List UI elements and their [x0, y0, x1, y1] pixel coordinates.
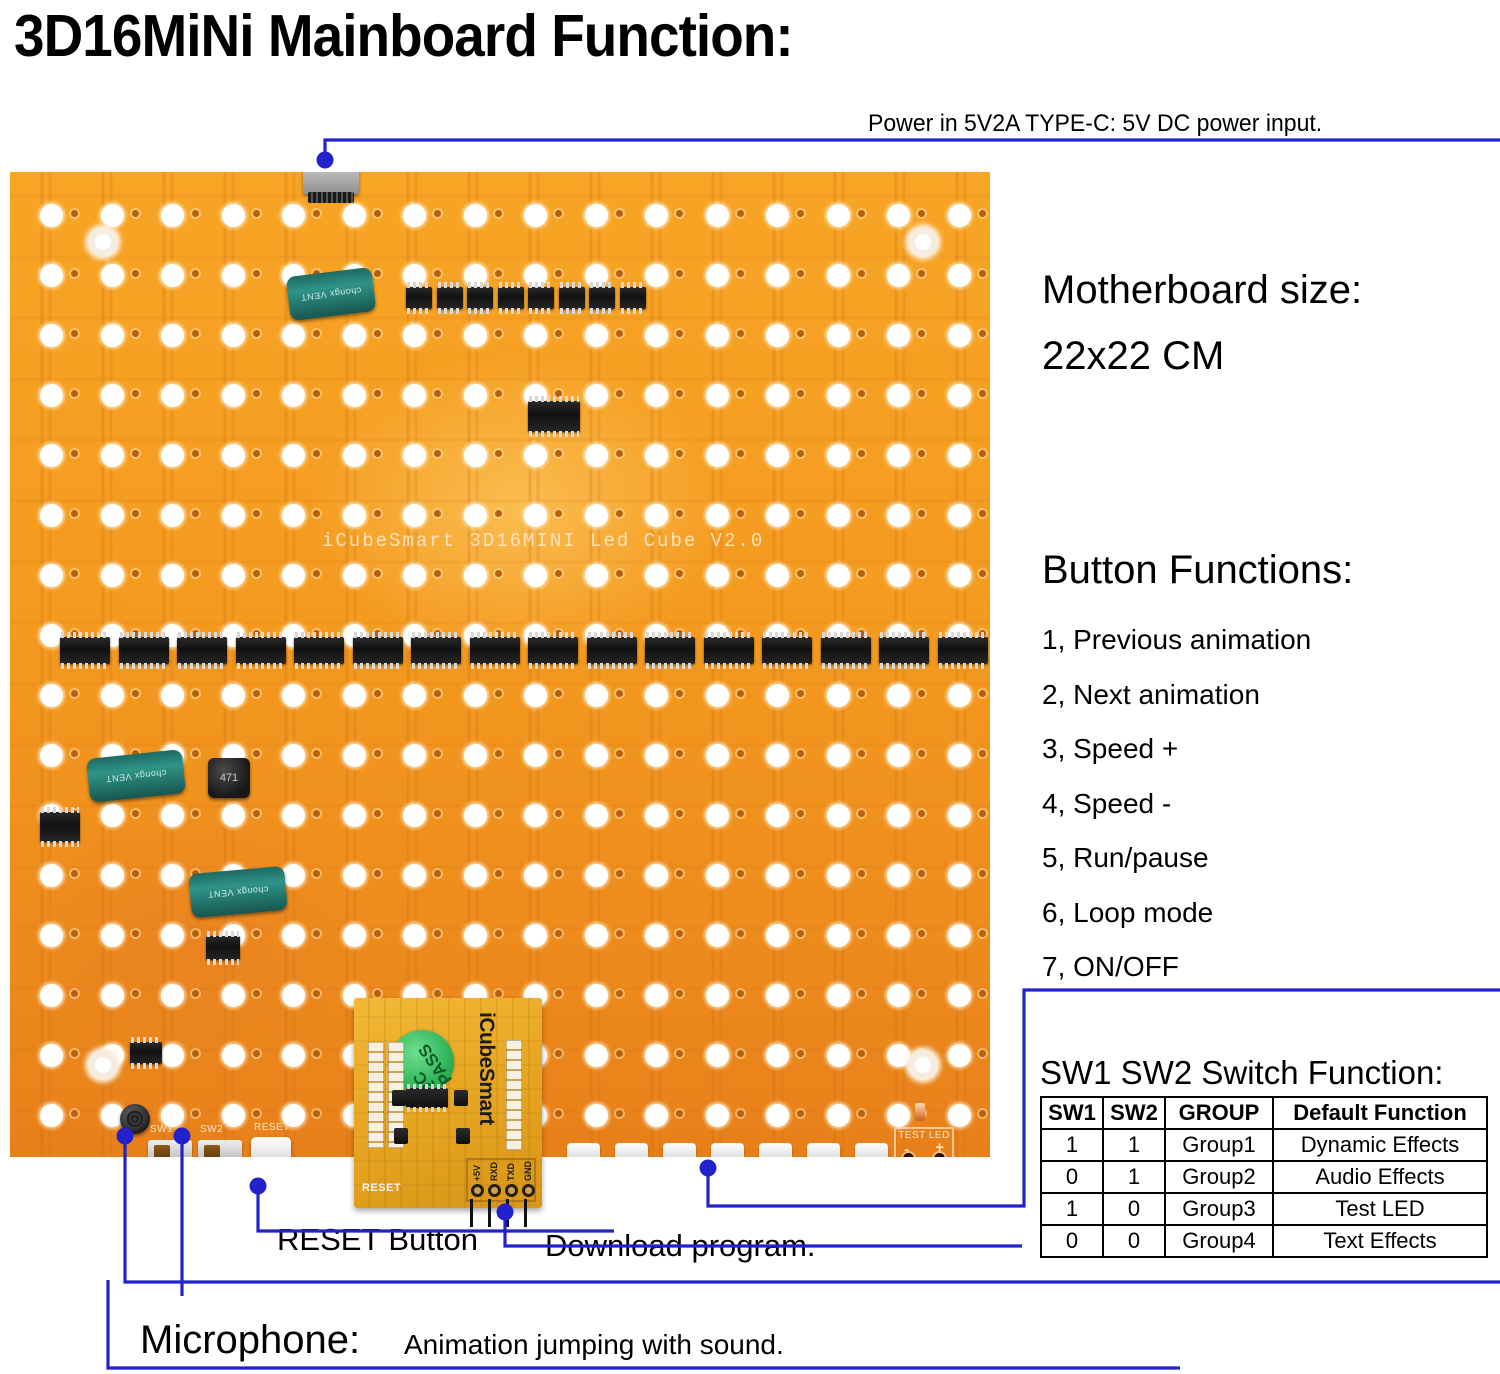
module-header-left[interactable] [368, 1042, 384, 1148]
led-hole [948, 744, 971, 767]
page-title: 3D16MiNi Mainboard Function: [14, 2, 793, 70]
table-row: 01Group2Audio Effects [1041, 1161, 1487, 1193]
led-hole [766, 564, 789, 587]
sw1-slide-switch[interactable] [148, 1140, 192, 1157]
led-hole [101, 864, 124, 887]
led-hole [887, 1104, 910, 1127]
layer-driver-ic [470, 637, 520, 664]
function-button-7[interactable] [855, 1143, 888, 1157]
microphone-callout-title: Microphone: [140, 1318, 360, 1363]
table-header-cell-1: SW2 [1103, 1097, 1165, 1129]
row-driver-ic [406, 287, 432, 309]
sw2-slide-switch[interactable] [198, 1140, 242, 1157]
led-hole [948, 444, 971, 467]
led-hole [766, 1104, 789, 1127]
led-hole [706, 384, 729, 407]
led-hole [645, 324, 668, 347]
led-hole [222, 684, 245, 707]
led-hole [464, 504, 487, 527]
led-hole [222, 564, 245, 587]
callout-dot-reset [250, 1178, 267, 1195]
button-function-item-4: 4, Speed - [1042, 777, 1462, 832]
pcb-via [616, 570, 623, 577]
regulator-ic-left [40, 812, 80, 842]
pcb-via [676, 690, 683, 697]
led-hole [40, 564, 63, 587]
led-hole [403, 324, 426, 347]
led-hole [101, 564, 124, 587]
pcb-via [555, 330, 562, 337]
led-hole [282, 1044, 305, 1067]
reset-button[interactable] [251, 1137, 291, 1157]
pcb-via [616, 930, 623, 937]
led-hole [524, 804, 547, 827]
led-hole [222, 804, 245, 827]
pcb-via [555, 210, 562, 217]
pcb-via [132, 510, 139, 517]
test-led-indicator [915, 1103, 925, 1121]
led-hole [827, 504, 850, 527]
pcb-via [495, 270, 502, 277]
pcb-via [676, 210, 683, 217]
pcb-via [979, 270, 986, 277]
pcb-via [71, 870, 78, 877]
pcb-via [918, 510, 925, 517]
pcb-via [676, 450, 683, 457]
pcb-via [374, 330, 381, 337]
led-hole [645, 1104, 668, 1127]
module-pin-TXD[interactable] [505, 1184, 518, 1197]
layer-driver-ic [938, 637, 988, 664]
led-hole [343, 744, 366, 767]
led-hole [403, 204, 426, 227]
pcb-via [192, 750, 199, 757]
pcb-via [132, 870, 139, 877]
test-led-pad: TEST LED - + [894, 1127, 954, 1157]
led-hole [222, 324, 245, 347]
layer-driver-ic [587, 637, 637, 664]
reset-button-callout-label: RESET Button [277, 1222, 478, 1258]
led-hole [403, 684, 426, 707]
pcb-via [918, 690, 925, 697]
pcb-via [616, 450, 623, 457]
table-cell: 1 [1103, 1161, 1165, 1193]
pcb-via [676, 510, 683, 517]
pcb-via [132, 690, 139, 697]
led-hole [343, 204, 366, 227]
led-hole [948, 864, 971, 887]
table-cell: Test LED [1273, 1193, 1487, 1225]
led-hole [222, 984, 245, 1007]
led-hole [101, 804, 124, 827]
led-hole [766, 504, 789, 527]
pcb-via [313, 1110, 320, 1117]
mounting-hole [88, 227, 118, 257]
pcb-via [555, 510, 562, 517]
pcb-via [313, 510, 320, 517]
pcb-via [737, 390, 744, 397]
pcb-via [797, 750, 804, 757]
row-driver-ic [620, 287, 646, 309]
led-hole [282, 444, 305, 467]
pcb-via [797, 810, 804, 817]
pcb-via [434, 390, 441, 397]
pcb-via [71, 390, 78, 397]
module-pin-RXD[interactable] [488, 1184, 501, 1197]
led-hole [464, 804, 487, 827]
pcb-via [858, 510, 865, 517]
pcb-via [495, 450, 502, 457]
pcb-via [918, 330, 925, 337]
led-hole [827, 324, 850, 347]
layer-driver-ic [645, 637, 695, 664]
pcb-via [495, 930, 502, 937]
pcb-via [313, 330, 320, 337]
power-inductor: 471 [208, 758, 250, 798]
pcb-via [979, 810, 986, 817]
function-button-6[interactable] [807, 1143, 840, 1157]
table-cell: 1 [1041, 1193, 1103, 1225]
module-pin-p5V[interactable] [471, 1184, 484, 1197]
function-button-1[interactable] [567, 1143, 600, 1157]
pcb-via [858, 450, 865, 457]
led-hole [101, 684, 124, 707]
led-hole [827, 444, 850, 467]
led-hole [827, 924, 850, 947]
pcb-via [918, 750, 925, 757]
pcb-via [918, 450, 925, 457]
pcb-via [495, 330, 502, 337]
led-hole [706, 804, 729, 827]
led-hole [887, 324, 910, 347]
module-pin-header[interactable]: +5VRXDTXDGND [466, 1158, 536, 1202]
pcb-via [737, 450, 744, 457]
led-hole [101, 984, 124, 1007]
led-hole [706, 444, 729, 467]
led-hole [464, 864, 487, 887]
pcb-via [979, 330, 986, 337]
led-hole [766, 864, 789, 887]
pcb-via [192, 450, 199, 457]
led-hole [524, 864, 547, 887]
led-hole [161, 384, 184, 407]
pcb-via [192, 510, 199, 517]
module-header-right[interactable] [506, 1040, 522, 1150]
led-hole [585, 864, 608, 887]
led-hole [948, 1044, 971, 1067]
pcb-via [434, 750, 441, 757]
pcb-via [737, 330, 744, 337]
led-hole [706, 744, 729, 767]
pcb-via [555, 930, 562, 937]
pcb-via [253, 810, 260, 817]
led-hole [343, 864, 366, 887]
row-driver-ic [498, 287, 524, 309]
pcb-via [918, 270, 925, 277]
led-hole [645, 744, 668, 767]
table-cell: Group4 [1165, 1225, 1273, 1257]
layer-driver-ic [704, 637, 754, 664]
pcb-via [616, 330, 623, 337]
led-hole [827, 684, 850, 707]
function-button-4[interactable] [711, 1143, 744, 1157]
module-pin-label-TXD: TXD [506, 1163, 516, 1181]
led-hole [524, 564, 547, 587]
pcb-via [253, 1110, 260, 1117]
pcb-via [495, 750, 502, 757]
led-hole [403, 504, 426, 527]
callout-dot-buttons [700, 1160, 717, 1177]
pcb-via [71, 450, 78, 457]
row-driver-ic [437, 287, 463, 309]
led-hole [887, 984, 910, 1007]
pcb-via [132, 210, 139, 217]
module-pin-label-RXD: RXD [489, 1162, 499, 1181]
pcb-via [797, 1050, 804, 1057]
pcb-silkscreen-text: iCubeSmart 3D16MINI Led Cube V2.0 [322, 530, 764, 552]
function-button-2[interactable] [615, 1143, 648, 1157]
table-header-row: SW1SW2GROUPDefault Function [1041, 1097, 1487, 1129]
motherboard-size-title: Motherboard size: [1042, 268, 1362, 313]
led-hole [524, 204, 547, 227]
pcb-via [374, 750, 381, 757]
pcb-via [374, 870, 381, 877]
led-hole [645, 1044, 668, 1067]
pcb-via [495, 570, 502, 577]
led-hole [645, 684, 668, 707]
led-hole [40, 1044, 63, 1067]
led-hole [645, 264, 668, 287]
pcb-via [797, 1110, 804, 1117]
pcb-via [313, 570, 320, 577]
led-hole [40, 264, 63, 287]
led-hole [585, 744, 608, 767]
table-header-cell-2: GROUP [1165, 1097, 1273, 1129]
pcb-via [434, 930, 441, 937]
module-pin-GND[interactable] [522, 1184, 535, 1197]
pcb-via [616, 870, 623, 877]
led-hole [222, 504, 245, 527]
led-hole [403, 804, 426, 827]
led-hole [343, 924, 366, 947]
led-hole [887, 504, 910, 527]
module-pin-label-p5V: +5V [472, 1165, 482, 1181]
row-driver-ic [528, 287, 554, 309]
button-function-item-3: 3, Speed + [1042, 722, 1462, 777]
pcb-via [313, 750, 320, 757]
led-hole [161, 684, 184, 707]
mounting-hole [88, 1050, 118, 1080]
led-hole [585, 924, 608, 947]
led-hole [948, 564, 971, 587]
pcb-via [918, 210, 925, 217]
led-hole [766, 264, 789, 287]
pcb-via [979, 510, 986, 517]
download-program-callout-label: Download program. [545, 1228, 816, 1264]
led-hole [887, 204, 910, 227]
pcb-via [313, 870, 320, 877]
led-hole [887, 1044, 910, 1067]
pcb-via [374, 270, 381, 277]
pcb-via [253, 330, 260, 337]
pcb-via [979, 1110, 986, 1117]
pcb-via [555, 1110, 562, 1117]
table-row: 10Group3Test LED [1041, 1193, 1487, 1225]
pcb-via [192, 690, 199, 697]
led-hole [948, 1104, 971, 1127]
pcb-via [797, 690, 804, 697]
led-hole [403, 744, 426, 767]
led-hole [645, 564, 668, 587]
led-hole [827, 984, 850, 1007]
led-hole [948, 264, 971, 287]
pcb-via [676, 1110, 683, 1117]
pcb-via [979, 210, 986, 217]
microphone-callout-desc: Animation jumping with sound. [404, 1329, 784, 1361]
pcb-via [858, 930, 865, 937]
led-hole [766, 924, 789, 947]
pcb-via [253, 210, 260, 217]
pcb-via [495, 990, 502, 997]
pcb-via [313, 1050, 320, 1057]
led-hole [343, 384, 366, 407]
pcb-via [192, 1050, 199, 1057]
motherboard-size-value: 22x22 CM [1042, 334, 1224, 379]
pcb-via [313, 990, 320, 997]
led-hole [161, 264, 184, 287]
pcb-via [71, 750, 78, 757]
pcb-via [616, 390, 623, 397]
led-hole [343, 324, 366, 347]
callout-dot-power [317, 152, 334, 169]
pcb-via [71, 930, 78, 937]
pcb-via [858, 810, 865, 817]
pcb-via [192, 270, 199, 277]
pcb-via [71, 330, 78, 337]
led-hole [464, 204, 487, 227]
pcb-via [253, 990, 260, 997]
pcb-via [676, 990, 683, 997]
pcb-via [979, 990, 986, 997]
sw1-silkscreen: SW1 [150, 1124, 173, 1135]
function-button-3[interactable] [663, 1143, 696, 1157]
led-hole [282, 744, 305, 767]
mic-amp-ic [130, 1042, 162, 1064]
led-hole [343, 804, 366, 827]
pcb-via [676, 330, 683, 337]
led-hole [766, 444, 789, 467]
led-hole [403, 924, 426, 947]
pcb-via [979, 750, 986, 757]
led-hole [887, 684, 910, 707]
led-hole [161, 924, 184, 947]
pcb-via [797, 930, 804, 937]
pcb-via [132, 810, 139, 817]
led-hole [161, 864, 184, 887]
row-driver-ic [589, 287, 615, 309]
pcb-via [616, 510, 623, 517]
pcb-via [71, 210, 78, 217]
led-hole [706, 1104, 729, 1127]
pcb-via [737, 870, 744, 877]
pcb-via [434, 510, 441, 517]
led-hole [645, 804, 668, 827]
led-hole [282, 684, 305, 707]
pcb-via [858, 990, 865, 997]
pcb-via [132, 570, 139, 577]
led-hole [403, 444, 426, 467]
led-hole [40, 984, 63, 1007]
led-hole [887, 444, 910, 467]
led-hole [101, 204, 124, 227]
pcb-via [797, 390, 804, 397]
pcb-via [192, 570, 199, 577]
pcb-via [797, 210, 804, 217]
led-hole [645, 444, 668, 467]
led-hole [706, 984, 729, 1007]
led-hole [706, 504, 729, 527]
led-hole [161, 204, 184, 227]
pcb-via [858, 750, 865, 757]
button-function-item-6: 6, Loop mode [1042, 886, 1462, 941]
pcb-via [858, 690, 865, 697]
button-function-item-1: 1, Previous animation [1042, 613, 1462, 668]
layer-driver-ic [879, 637, 929, 664]
pcb-via [979, 450, 986, 457]
led-hole [706, 264, 729, 287]
function-button-5[interactable] [759, 1143, 792, 1157]
pcb-via [979, 870, 986, 877]
pcb-via [192, 330, 199, 337]
row-driver-ic [467, 287, 493, 309]
led-hole [40, 1104, 63, 1127]
pcb-via [495, 510, 502, 517]
pcb-via [918, 570, 925, 577]
led-hole [585, 384, 608, 407]
usb-type-c-connector[interactable] [303, 172, 359, 194]
led-hole [706, 324, 729, 347]
led-hole [585, 204, 608, 227]
pcb-via [737, 990, 744, 997]
pcb-via [253, 1050, 260, 1057]
led-hole [222, 444, 245, 467]
download-programmer-module[interactable]: QC PASS iCubeSmart RESET +5VRXDTXDGND [354, 998, 542, 1208]
pcb-via [132, 390, 139, 397]
module-pin-label-GND: GND [523, 1161, 533, 1181]
led-hole [222, 384, 245, 407]
pcb-via [313, 210, 320, 217]
pcb-via [374, 390, 381, 397]
pcb-via [434, 570, 441, 577]
led-hole [706, 204, 729, 227]
layer-driver-ic [762, 637, 812, 664]
pcb-via [555, 1050, 562, 1057]
table-cell: 0 [1041, 1161, 1103, 1193]
pcb-via [616, 750, 623, 757]
pcb-via [918, 930, 925, 937]
led-hole [101, 264, 124, 287]
table-cell: 0 [1103, 1225, 1165, 1257]
led-hole [282, 324, 305, 347]
led-hole [40, 324, 63, 347]
pcb-via [918, 390, 925, 397]
led-hole [40, 204, 63, 227]
led-hole [827, 864, 850, 887]
led-hole [222, 1104, 245, 1127]
pcb-via [797, 570, 804, 577]
pcb-via [313, 810, 320, 817]
led-hole [706, 864, 729, 887]
